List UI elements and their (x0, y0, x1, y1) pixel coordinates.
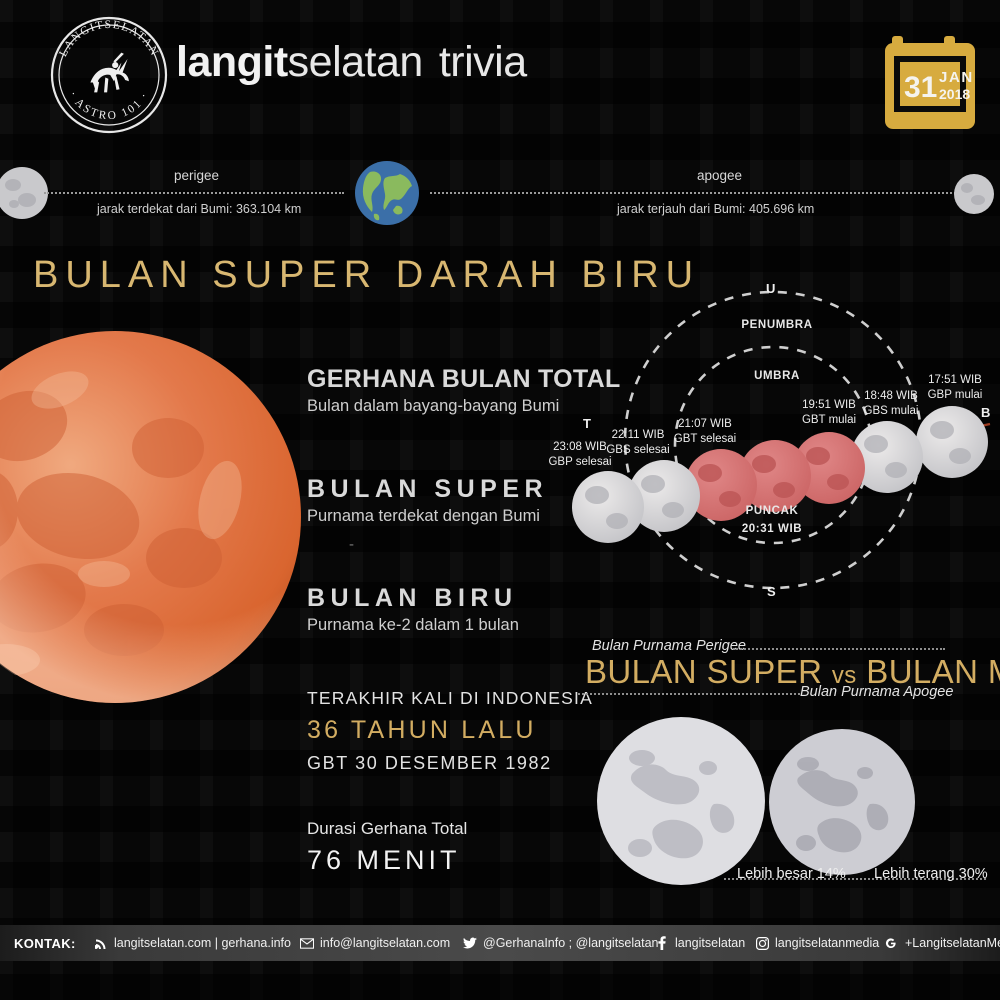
langitselatan-logo: LANGITSELATAN · ASTRO 101 · (48, 14, 170, 136)
footer-item-website[interactable]: langitselatan.com | gerhana.info (94, 936, 291, 950)
diagram-axis-south: S (767, 584, 776, 599)
rss-icon (94, 936, 108, 950)
last-time-value: 36 TAHUN LALU (307, 716, 537, 745)
fact-title-1: BULAN SUPER (307, 475, 548, 504)
diagram-axis-west: T (583, 416, 591, 431)
blood-moon-illustration (0, 330, 302, 704)
earth-globe-icon (352, 158, 422, 228)
footer-item-facebook[interactable]: langitselatan (655, 936, 745, 950)
mini-moon-illustration (768, 728, 916, 876)
penumbra-label: PENUMBRA (702, 318, 852, 332)
svg-text:· ASTRO 101 ·: · ASTRO 101 · (66, 89, 151, 122)
diagram-axis-north: U (766, 281, 775, 296)
phase-time-5: 23:08 WIB (534, 440, 626, 455)
fact-subtitle-1: Purnama terdekat dengan Bumi (307, 507, 540, 526)
phase-event-5: GBP selesai (534, 455, 626, 470)
divider-dash: - (349, 536, 354, 553)
footer-text-instagram: langitselatanmedia (775, 936, 879, 950)
footer-text-website: langitselatan.com | gerhana.info (114, 936, 291, 950)
duration-label: Durasi Gerhana Total (307, 819, 467, 839)
umbra-label: UMBRA (702, 369, 852, 383)
calendar-year: 2018 (939, 86, 970, 102)
comparison-bottom-line (578, 693, 800, 695)
apogee-detail: jarak terjauh dari Bumi: 405.696 km (617, 202, 814, 216)
phase-time-0: 17:51 WIB (909, 373, 1000, 388)
email-icon (300, 936, 314, 950)
footer-item-googleplus[interactable]: +LangitselatanMedia (885, 936, 1000, 950)
footer-text-email: info@langitselatan.com (320, 936, 450, 950)
fact-subtitle-0: Bulan dalam bayang-bayang Bumi (307, 397, 559, 416)
fact-subtitle-2: Purnama ke-2 dalam 1 bulan (307, 616, 519, 635)
footer-item-email[interactable]: info@langitselatan.com (300, 936, 450, 950)
duration-value: 76 MENIT (307, 845, 461, 876)
note-size: Lebih besar 14% (737, 866, 846, 882)
calendar-month: JAN (939, 69, 974, 86)
peak-label: PUNCAK (717, 504, 827, 518)
footer-item-twitter[interactable]: @GerhanaInfo ; @langitselatan (463, 936, 658, 950)
kontak-label: KONTAK: (14, 936, 76, 951)
phase-event-2: GBT mulai (783, 413, 875, 428)
fact-title-2: BULAN BIRU (307, 584, 518, 613)
brand-suffix: trivia (439, 38, 527, 86)
perigee-moon-icon (0, 165, 50, 221)
twitter-icon (463, 936, 477, 950)
last-time-heading: TERAKHIR KALI DI INDONESIA (307, 688, 593, 709)
apogee-label: apogee (697, 168, 742, 183)
phase-time-2: 19:51 WIB (783, 398, 875, 413)
note-bright: Lebih terang 30% (874, 866, 988, 882)
phase-label-2: 19:51 WIB GBT mulai (783, 398, 875, 427)
svg-text:LANGITSELATAN: LANGITSELATAN (57, 19, 161, 59)
googleplus-icon (885, 936, 899, 950)
comparison-title-part1: BULAN SUPER (585, 653, 822, 690)
perigee-label: perigee (174, 168, 219, 183)
brand-title: langitselatantrivia (176, 38, 527, 87)
instagram-icon (755, 936, 769, 950)
brand-bold: langit (176, 38, 288, 86)
brand-light: selatan (288, 38, 423, 86)
footer-text-twitter: @GerhanaInfo ; @langitselatan (483, 936, 658, 950)
peak-time: 20:31 WIB (717, 522, 827, 536)
footer-item-instagram[interactable]: langitselatanmedia (755, 936, 879, 950)
apogee-moon-icon (952, 172, 996, 216)
last-time-detail: GBT 30 DESEMBER 1982 (307, 753, 552, 774)
perigee-detail: jarak terdekat dari Bumi: 363.104 km (97, 202, 301, 216)
comparison-bottom-caption: Bulan Purnama Apogee (800, 684, 953, 700)
infographic-canvas: LANGITSELATAN · ASTRO 101 · langitselata… (0, 0, 1000, 1000)
moon-phase-23-08 (572, 471, 644, 543)
footer-text-googleplus: +LangitselatanMedia (905, 936, 1000, 950)
super-moon-illustration (596, 716, 766, 886)
comparison-top-line (733, 648, 945, 650)
footer-text-facebook: langitselatan (675, 936, 745, 950)
phase-label-5: 23:08 WIB GBP selesai (534, 440, 626, 469)
apogee-dotted-line (430, 192, 960, 194)
calendar-icon: 31 JAN 2018 (884, 34, 976, 132)
comparison-top-caption: Bulan Purnama Perigee (592, 638, 746, 654)
calendar-day: 31 (904, 71, 937, 104)
facebook-icon (655, 936, 669, 950)
diagram-axis-east: B (981, 405, 990, 420)
perigee-dotted-line (44, 192, 344, 194)
